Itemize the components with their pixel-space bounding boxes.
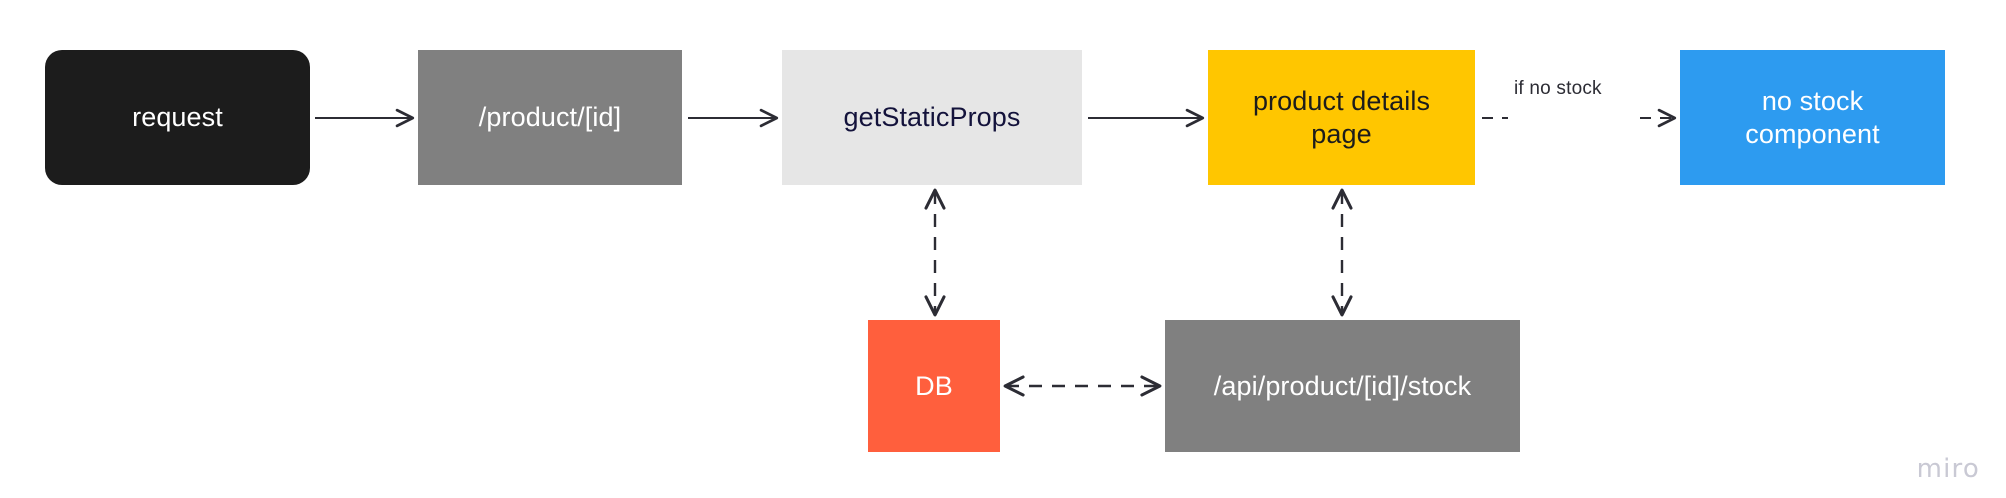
node-product-details-page[interactable]: product details page	[1208, 50, 1475, 185]
node-api-stock-label: /api/product/[id]/stock	[1214, 370, 1471, 403]
node-no-stock-component[interactable]: no stock component	[1680, 50, 1945, 185]
node-product-route[interactable]: /product/[id]	[418, 50, 682, 185]
node-no-stock-component-label: no stock component	[1745, 85, 1880, 151]
miro-watermark: miro	[1917, 454, 1980, 484]
node-api-stock[interactable]: /api/product/[id]/stock	[1165, 320, 1520, 452]
node-product-details-page-label: product details page	[1253, 85, 1430, 151]
node-db-label: DB	[915, 370, 953, 403]
node-request-label: request	[132, 101, 223, 134]
edge-label-if-no-stock: if no stock	[1514, 78, 1602, 100]
node-request[interactable]: request	[45, 50, 310, 185]
node-get-static-props[interactable]: getStaticProps	[782, 50, 1082, 185]
node-db[interactable]: DB	[868, 320, 1000, 452]
diagram-canvas: request /product/[id] getStaticProps pro…	[0, 0, 2006, 498]
node-product-route-label: /product/[id]	[479, 101, 621, 134]
node-get-static-props-label: getStaticProps	[844, 101, 1021, 134]
